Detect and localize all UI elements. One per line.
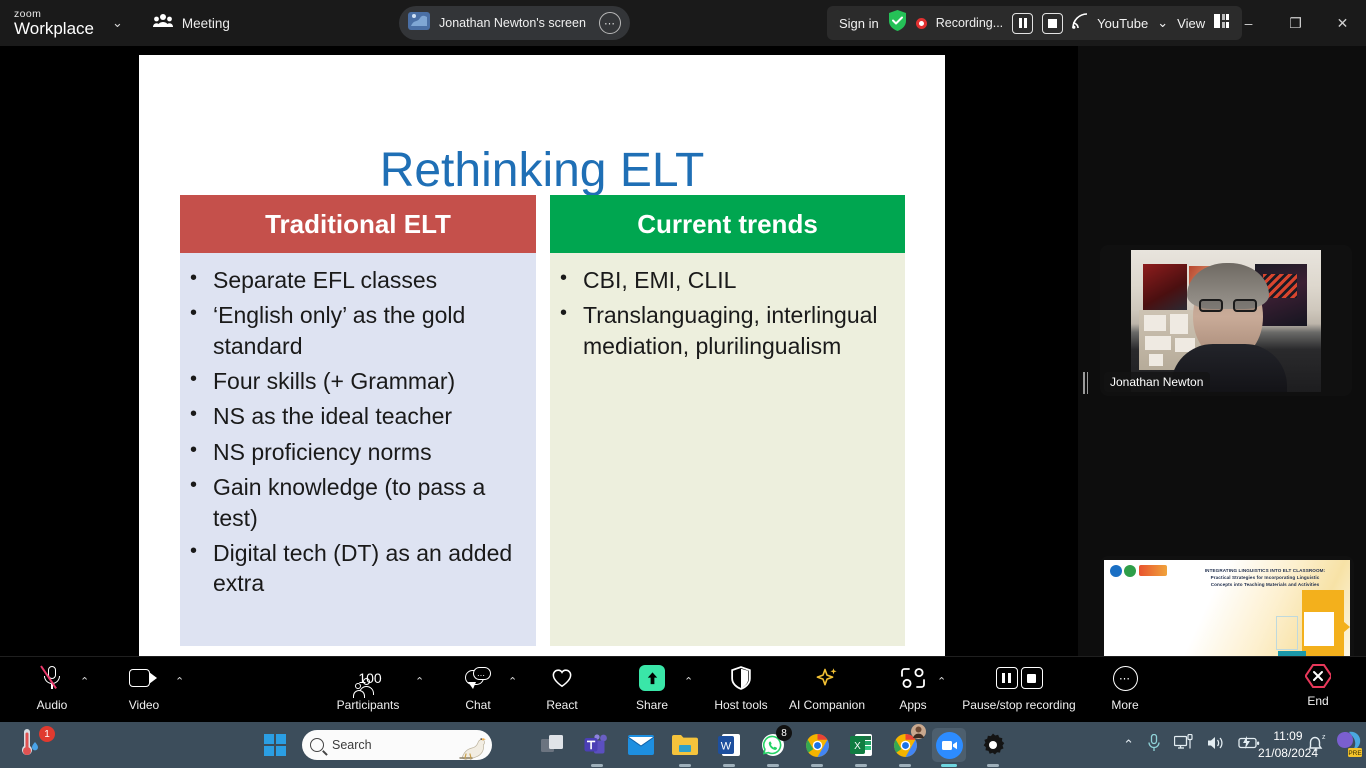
wall-poster-icon bbox=[1143, 264, 1187, 310]
bullet-dot-icon: • bbox=[190, 265, 201, 295]
taskbar-center-group: Search bbox=[264, 722, 492, 768]
zoom-workplace-logo: zoom Workplace bbox=[14, 9, 94, 38]
workspace-chevron-down-icon[interactable]: ⌄ bbox=[112, 15, 123, 31]
bullet-text: NS as the ideal teacher bbox=[213, 401, 452, 431]
toolbar-host-tools-label: Host tools bbox=[714, 698, 767, 712]
seminar-title: INTEGRATING LINGUISTICS INTO ELT CLASSRO… bbox=[1188, 567, 1342, 588]
titlebar-status-group: Sign in Recording... YouTube ⌄ View bbox=[827, 6, 1242, 40]
toolbar-share-label: Share bbox=[636, 698, 668, 712]
windows-taskbar: 1 Search bbox=[0, 722, 1366, 768]
meeting-tab-label: Meeting bbox=[182, 16, 230, 31]
seminar-title-line3: Concepts into Teaching Materials and Act… bbox=[1188, 581, 1342, 588]
copilot-pre-icon[interactable]: PRE bbox=[1336, 729, 1362, 762]
zoom-logo-small: zoom bbox=[14, 9, 94, 20]
decor-arrow-icon bbox=[1337, 616, 1350, 638]
microphone-muted-icon bbox=[44, 663, 60, 693]
youtube-label[interactable]: YouTube bbox=[1097, 16, 1148, 31]
system-tray: ⌃ bbox=[1123, 722, 1260, 768]
view-button[interactable]: View bbox=[1177, 16, 1205, 31]
weather-widget[interactable]: 1 bbox=[14, 728, 54, 762]
teams-app-button[interactable] bbox=[580, 728, 614, 762]
sign-in-button[interactable]: Sign in bbox=[839, 16, 879, 31]
list-item: •Translanguaging, interlingual mediation… bbox=[560, 300, 891, 361]
bird-illustration-icon bbox=[454, 732, 488, 760]
toolbar-apps-label: Apps bbox=[899, 698, 926, 712]
bullet-text: Four skills (+ Grammar) bbox=[213, 366, 455, 396]
toolbar-more-label: More bbox=[1111, 698, 1138, 712]
bullet-text: ‘English only’ as the gold standard bbox=[213, 300, 522, 361]
tile-name-label: Jonathan Newton bbox=[1104, 372, 1210, 392]
bullet-dot-icon: • bbox=[560, 300, 571, 361]
column-body-traditional: •Separate EFL classes •‘English only’ as… bbox=[180, 253, 536, 646]
stop-recording-button[interactable] bbox=[1042, 13, 1063, 34]
tray-chevron-up-icon[interactable]: ⌃ bbox=[1123, 737, 1134, 753]
bullet-text: Digital tech (DT) as an added extra bbox=[213, 538, 522, 599]
zoom-meeting-window: zoom Workplace ⌄ Meeting Jonathan Newton… bbox=[0, 0, 1366, 768]
bullet-dot-icon: • bbox=[560, 265, 571, 295]
apps-chevron-up-icon[interactable]: ⌃ bbox=[937, 675, 946, 688]
svg-text:PRE: PRE bbox=[1348, 750, 1362, 757]
chrome-profile-app-button[interactable] bbox=[888, 728, 922, 762]
youtube-chevron-down-icon[interactable]: ⌄ bbox=[1157, 15, 1168, 31]
list-item: •Digital tech (DT) as an added extra bbox=[190, 538, 522, 599]
screen-share-thumbnail-icon bbox=[408, 11, 430, 36]
taskbar-app-buttons: W 8 X bbox=[536, 722, 1010, 768]
meeting-stage: Rethinking ELT Traditional ELT •Separate… bbox=[0, 46, 1366, 656]
chat-chevron-up-icon[interactable]: ⌃ bbox=[508, 675, 517, 688]
column-header-traditional: Traditional ELT bbox=[180, 195, 536, 253]
people-group-icon bbox=[153, 13, 173, 34]
file-explorer-button[interactable] bbox=[668, 728, 702, 762]
slide-column-traditional: Traditional ELT •Separate EFL classes •‘… bbox=[180, 195, 536, 646]
bullet-text: NS proficiency norms bbox=[213, 437, 432, 467]
bullet-dot-icon: • bbox=[190, 401, 201, 431]
toolbar-share-button[interactable]: Share bbox=[612, 663, 692, 712]
toolbar-end-button[interactable]: End bbox=[1278, 663, 1358, 708]
video-chevron-up-icon[interactable]: ⌃ bbox=[175, 675, 184, 688]
decor-shape bbox=[1304, 612, 1334, 646]
weather-badge-count: 1 bbox=[39, 726, 55, 742]
whatsapp-app-button[interactable]: 8 bbox=[756, 728, 790, 762]
list-item: •NS as the ideal teacher bbox=[190, 401, 522, 431]
column-body-current-trends: •CBI, EMI, CLIL •Translanguaging, interl… bbox=[550, 253, 905, 646]
svg-text:W: W bbox=[721, 741, 732, 753]
pause-recording-icon[interactable] bbox=[996, 667, 1018, 689]
toolbar-react-label: React bbox=[546, 698, 577, 712]
windows-start-icon[interactable] bbox=[264, 734, 286, 756]
toolbar-pause-stop-recording-button[interactable]: Pause/stop recording bbox=[958, 663, 1080, 712]
bullet-text: Separate EFL classes bbox=[213, 265, 437, 295]
recording-dot-icon bbox=[916, 18, 927, 29]
bullet-text: Gain knowledge (to pass a test) bbox=[213, 472, 522, 533]
apps-icon bbox=[900, 663, 926, 693]
zoom-logo-big: Workplace bbox=[14, 20, 94, 37]
toolbar-participants-button[interactable]: 100 Participants bbox=[328, 663, 408, 712]
list-item: •‘English only’ as the gold standard bbox=[190, 300, 522, 361]
heart-icon bbox=[551, 663, 573, 693]
chat-bubble-icon: ⋯ bbox=[465, 663, 491, 693]
zoom-toolbar: Audio ⌃ Video ⌃ 100 Participants ⌃ ⋯ Cha… bbox=[0, 656, 1366, 722]
bullet-dot-icon: • bbox=[190, 472, 201, 533]
restore-button[interactable]: ❐ bbox=[1272, 0, 1319, 46]
pause-recording-button[interactable] bbox=[1012, 13, 1033, 34]
word-app-button[interactable]: W bbox=[712, 728, 746, 762]
panel-drag-handle[interactable] bbox=[1082, 372, 1089, 394]
toolbar-react-button[interactable]: React bbox=[522, 663, 602, 712]
battery-charging-tray-icon[interactable] bbox=[1238, 736, 1260, 755]
toolbar-chat-button[interactable]: ⋯ Chat bbox=[438, 663, 518, 712]
toolbar-host-tools-button[interactable]: Host tools bbox=[701, 663, 781, 712]
youtube-live-icon bbox=[1072, 13, 1088, 34]
glasses-icon bbox=[1199, 299, 1257, 312]
column-header-current-trends: Current trends bbox=[550, 195, 905, 253]
taskbar-tray-end: z PRE bbox=[1306, 722, 1362, 768]
institution-logo-icon bbox=[1110, 565, 1122, 577]
list-item: •Four skills (+ Grammar) bbox=[190, 366, 522, 396]
end-call-icon bbox=[1305, 663, 1331, 689]
participants-chevron-up-icon[interactable]: ⌃ bbox=[415, 675, 424, 688]
bullet-dot-icon: • bbox=[190, 437, 201, 467]
screen-share-indicator[interactable]: Jonathan Newton's screen ⋯ bbox=[399, 6, 630, 40]
audio-chevron-up-icon[interactable]: ⌃ bbox=[80, 675, 89, 688]
stop-recording-icon[interactable] bbox=[1021, 667, 1043, 689]
seminar-title-line1: INTEGRATING LINGUISTICS INTO ELT CLASSRO… bbox=[1188, 567, 1342, 574]
bullet-text: CBI, EMI, CLIL bbox=[583, 265, 736, 295]
kampus-merdeka-logo-icon bbox=[1139, 565, 1167, 576]
list-item: •NS proficiency norms bbox=[190, 437, 522, 467]
bullet-dot-icon: • bbox=[190, 366, 201, 396]
excel-app-button[interactable]: X bbox=[844, 728, 878, 762]
toolbar-video-label: Video bbox=[129, 698, 159, 712]
mail-app-button[interactable] bbox=[624, 728, 658, 762]
microphone-tray-icon[interactable] bbox=[1147, 734, 1161, 757]
notifications-icon[interactable]: z bbox=[1306, 733, 1326, 758]
taskview-button[interactable] bbox=[536, 728, 570, 762]
toolbar-ai-companion-button[interactable]: AI Companion bbox=[787, 663, 867, 712]
camera-icon bbox=[129, 663, 159, 693]
bullet-text: Translanguaging, interlingual mediation,… bbox=[583, 300, 891, 361]
meeting-tab[interactable]: Meeting bbox=[153, 13, 230, 34]
screen-share-label: Jonathan Newton's screen bbox=[439, 16, 590, 30]
shield-icon bbox=[730, 663, 752, 693]
seminar-title-line2: Practical Strategies for Incorporating L… bbox=[1188, 574, 1342, 581]
chrome-app-button[interactable] bbox=[800, 728, 834, 762]
screen-share-more-icon[interactable]: ⋯ bbox=[599, 12, 621, 34]
video-tile-jonathan-newton[interactable]: Jonathan Newton bbox=[1100, 245, 1352, 396]
minimize-button[interactable]: – bbox=[1225, 0, 1272, 46]
list-item: •Gain knowledge (to pass a test) bbox=[190, 472, 522, 533]
zoom-title-bar: zoom Workplace ⌄ Meeting Jonathan Newton… bbox=[0, 0, 1366, 46]
zoom-app-button[interactable] bbox=[932, 728, 966, 762]
institution-logo-icon bbox=[1124, 565, 1136, 577]
close-button[interactable]: ✕ bbox=[1319, 0, 1366, 46]
slide-column-current-trends: Current trends •CBI, EMI, CLIL •Translan… bbox=[550, 195, 905, 646]
svg-text:z: z bbox=[1322, 734, 1326, 741]
shared-slide: Rethinking ELT Traditional ELT •Separate… bbox=[139, 55, 945, 657]
volume-tray-icon[interactable] bbox=[1207, 735, 1225, 756]
toolbar-video-button[interactable]: Video bbox=[104, 663, 184, 712]
svg-text:X: X bbox=[854, 741, 861, 752]
recording-status-label: Recording... bbox=[936, 16, 1003, 30]
bullet-dot-icon: • bbox=[190, 300, 201, 361]
list-item: •Separate EFL classes bbox=[190, 265, 522, 295]
avatar bbox=[911, 724, 926, 744]
ellipsis-icon: ⋯ bbox=[1113, 663, 1138, 693]
toolbar-ai-companion-label: AI Companion bbox=[789, 698, 865, 712]
toolbar-recording-label: Pause/stop recording bbox=[962, 698, 1075, 712]
toolbar-participants-label: Participants bbox=[337, 698, 400, 712]
search-icon bbox=[310, 738, 324, 752]
toolbar-chat-label: Chat bbox=[465, 698, 490, 712]
list-item: •CBI, EMI, CLIL bbox=[560, 265, 891, 295]
participants-count: 100 bbox=[358, 670, 381, 686]
toolbar-more-button[interactable]: ⋯ More bbox=[1085, 663, 1165, 712]
settings-app-button[interactable] bbox=[976, 728, 1010, 762]
webcam-feed bbox=[1131, 250, 1321, 392]
whatsapp-badge-count: 8 bbox=[776, 725, 792, 741]
network-tray-icon[interactable] bbox=[1174, 734, 1194, 757]
taskbar-search-input[interactable]: Search bbox=[302, 730, 492, 760]
share-screen-icon bbox=[639, 663, 665, 693]
toolbar-audio-label: Audio bbox=[37, 698, 68, 712]
share-chevron-up-icon[interactable]: ⌃ bbox=[684, 675, 693, 688]
bullet-dot-icon: • bbox=[190, 538, 201, 599]
encryption-shield-icon[interactable] bbox=[888, 10, 907, 36]
window-controls: – ❐ ✕ bbox=[1225, 0, 1366, 46]
slide-title: Rethinking ELT bbox=[139, 143, 945, 198]
sparkles-icon bbox=[815, 663, 839, 693]
decor-shape bbox=[1276, 616, 1298, 650]
toolbar-end-label: End bbox=[1307, 694, 1328, 708]
pause-stop-recording-icon bbox=[996, 663, 1043, 693]
